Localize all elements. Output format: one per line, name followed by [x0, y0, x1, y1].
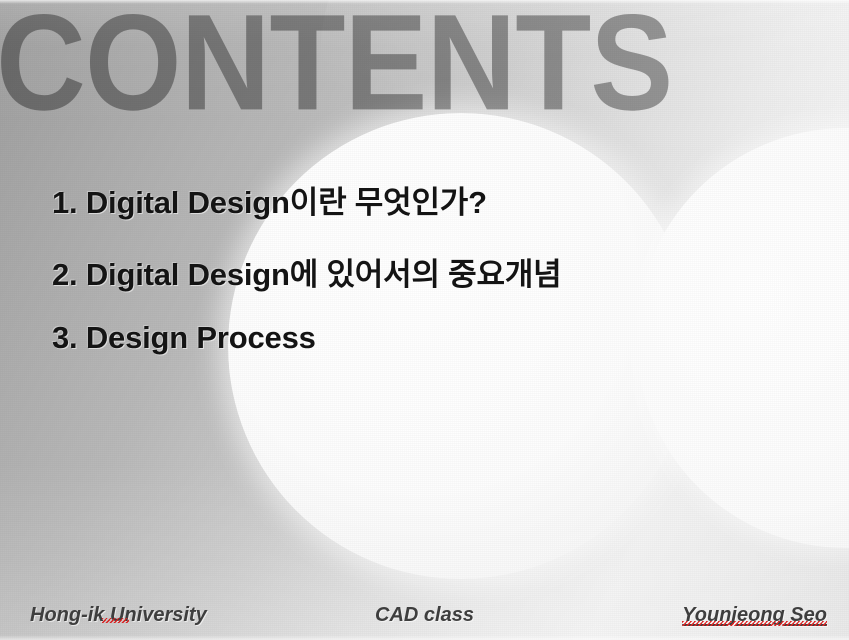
presentation-slide: CONTENTS 1. Digital Design이란 무엇인가? 2. Di…: [0, 0, 849, 640]
footer-author: Younjeong Seo: [682, 604, 827, 627]
slide-bottom-edge: [0, 635, 849, 640]
agenda-item: 1. Digital Design이란 무엇인가?: [52, 184, 792, 222]
agenda-item: 2. Digital Design에 있어서의 중요개념: [52, 256, 792, 294]
slide-footer: Hong-ik University CAD class Younjeong S…: [0, 596, 849, 634]
slide-title-watermark: CONTENTS: [0, 0, 672, 131]
agenda-item: 3. Design Process: [52, 319, 792, 357]
agenda-list: 1. Digital Design이란 무엇인가? 2. Digital Des…: [52, 184, 792, 356]
footer-author-label: Younjeong Seo: [682, 604, 827, 626]
